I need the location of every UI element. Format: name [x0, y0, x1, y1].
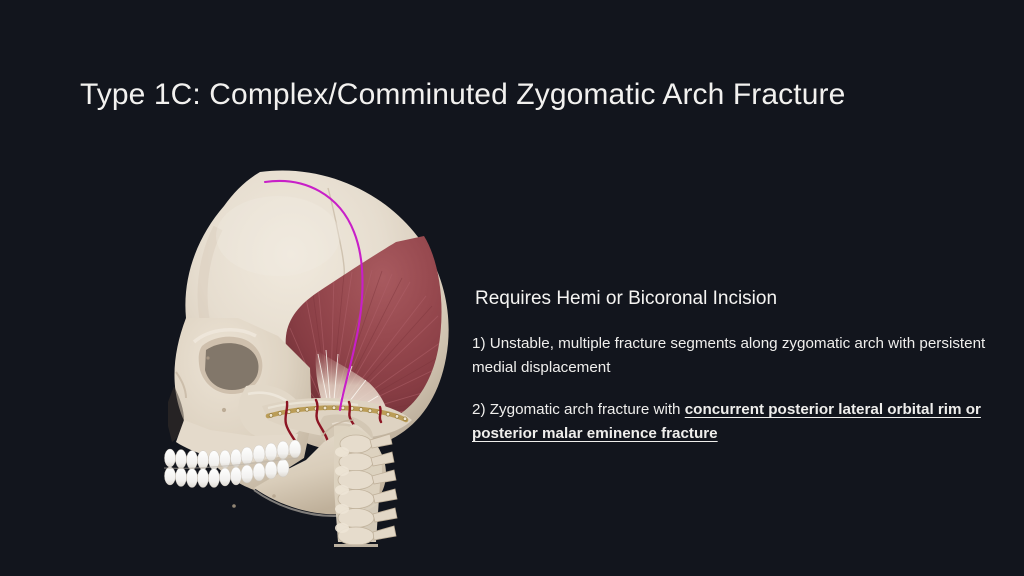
body-text-block: Requires Hemi or Bicoronal Incision 1) U… — [470, 286, 1000, 464]
bullet-2-number: 2) — [472, 401, 486, 418]
bullet-1-number: 1) — [472, 335, 486, 352]
presentation-slide: Type 1C: Complex/Comminuted Zygomatic Ar… — [0, 0, 1024, 576]
cervical-spine — [334, 426, 397, 547]
bullet-item-1: 1) Unstable, multiple fracture segments … — [470, 332, 1000, 380]
anatomy-illustration — [128, 158, 474, 562]
body-heading: Requires Hemi or Bicoronal Incision — [470, 286, 1000, 312]
bullet-2-text: Zygomatic arch fracture with — [490, 401, 685, 418]
page-title: Type 1C: Complex/Comminuted Zygomatic Ar… — [80, 76, 845, 114]
bullet-item-2: 2) Zygomatic arch fracture with concurre… — [470, 398, 1000, 446]
bullet-1-text: Unstable, multiple fracture segments alo… — [472, 335, 985, 376]
